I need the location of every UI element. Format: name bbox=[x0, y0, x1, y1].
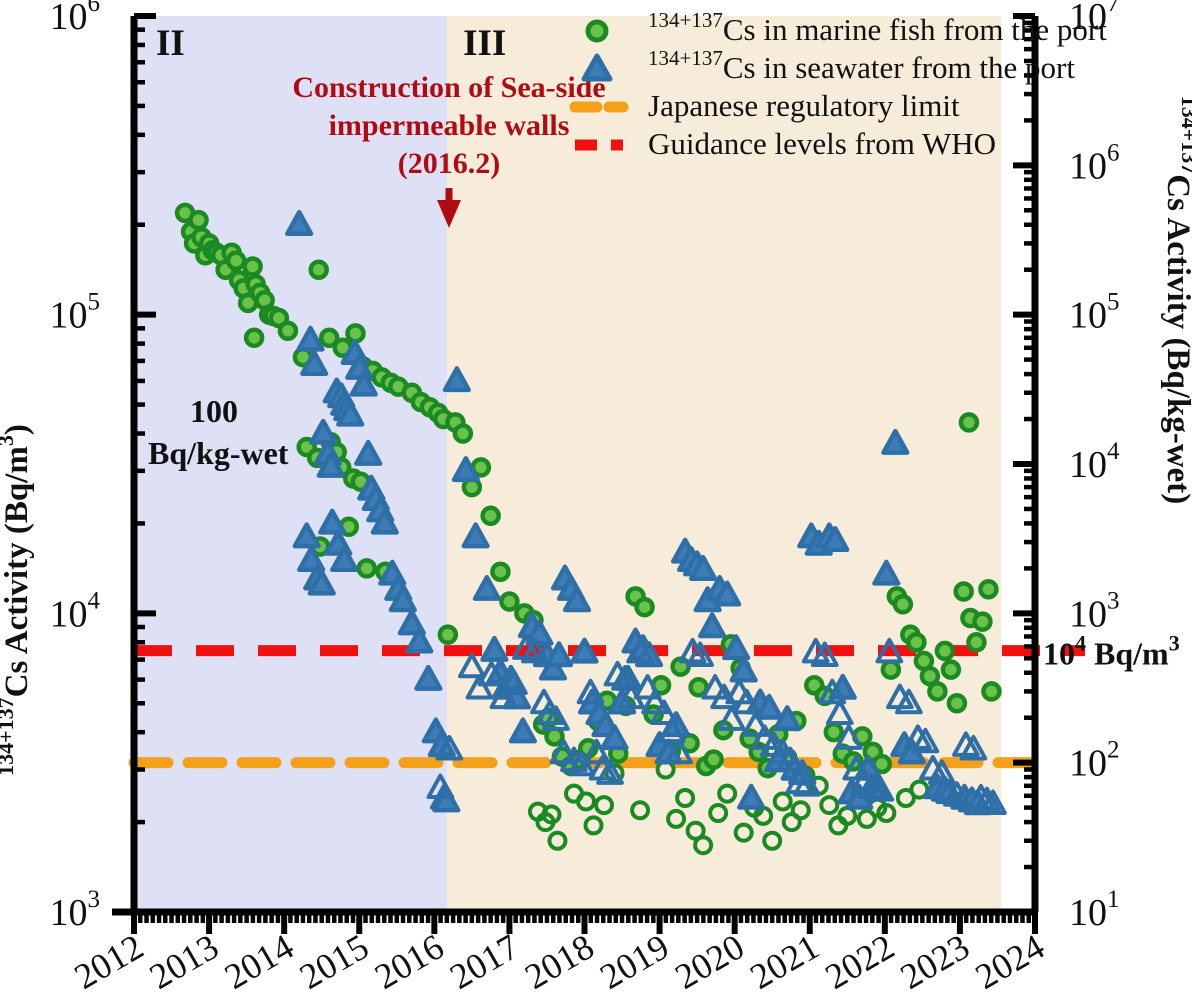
marine-fish-point bbox=[983, 683, 999, 699]
marine-fish-point bbox=[455, 426, 471, 442]
marine-fish-point bbox=[440, 627, 456, 643]
y-axis-left-tick-label: 104 bbox=[50, 587, 101, 635]
legend-label: Japanese regulatory limit bbox=[648, 88, 960, 123]
marine-fish-point bbox=[961, 414, 977, 430]
marine-fish-point bbox=[228, 253, 244, 269]
marine-fish-point bbox=[483, 508, 499, 524]
x-axis-tick-label: 2024 bbox=[969, 926, 1051, 997]
x-axis-tick-label: 2022 bbox=[818, 926, 900, 997]
marine-fish-point bbox=[280, 323, 296, 339]
x-axis-tick-label: 2019 bbox=[593, 926, 675, 997]
marine-fish-point bbox=[492, 564, 508, 580]
chart-root: IIIII10310410510610110210310410510610720… bbox=[0, 0, 1192, 1001]
marine-fish-point bbox=[956, 584, 972, 600]
marine-fish-point bbox=[949, 695, 965, 711]
marine-fish-point bbox=[347, 325, 363, 341]
marine-fish-point bbox=[929, 683, 945, 699]
y-axis-left-tick-label: 103 bbox=[50, 886, 101, 934]
x-axis-ticks: 2012201320142015201620172018201920202021… bbox=[68, 912, 1051, 997]
orange-limit-label-line2: Bq/kg-wet bbox=[148, 435, 289, 471]
y-axis-left-tick-label: 106 bbox=[50, 0, 101, 38]
x-axis-tick-label: 2023 bbox=[894, 926, 976, 997]
region-label-iii: III bbox=[463, 23, 506, 64]
y-axis-right-title: 134+137Cs Activity (Bq/kg-wet) bbox=[1160, 96, 1192, 505]
y-axis-left-tick-label: 105 bbox=[50, 289, 101, 337]
legend-marker-filled-circle bbox=[588, 22, 606, 40]
x-axis-tick-label: 2013 bbox=[143, 926, 225, 997]
marine-fish-point bbox=[359, 560, 375, 576]
x-axis-tick-label: 2016 bbox=[368, 926, 450, 997]
x-axis-tick-label: 2020 bbox=[668, 926, 750, 997]
marine-fish-point bbox=[937, 643, 953, 659]
region-label-ii: II bbox=[156, 23, 185, 64]
x-axis-tick-label: 2018 bbox=[518, 926, 600, 997]
marine-fish-point bbox=[968, 634, 984, 650]
y-axis-right-tick-label: 105 bbox=[1069, 289, 1120, 337]
orange-limit-label-line1: 100 bbox=[190, 393, 238, 429]
y-axis-right-tick-label: 103 bbox=[1069, 587, 1120, 635]
y-axis-right-tick-label: 102 bbox=[1069, 737, 1120, 785]
marine-fish-point bbox=[501, 594, 517, 610]
marine-fish-point bbox=[191, 212, 207, 228]
annotation-line-2: impermeable walls bbox=[329, 109, 570, 142]
marine-fish-point bbox=[826, 724, 842, 740]
marine-fish-point bbox=[637, 599, 653, 615]
y-axis-right-tick-label: 101 bbox=[1069, 886, 1120, 934]
red-guidance-label: 104 Bq/m3 bbox=[1043, 631, 1180, 672]
annotation-line-3: (2016.2) bbox=[398, 147, 500, 180]
marine-fish-point bbox=[883, 662, 899, 678]
marine-fish-point bbox=[895, 596, 911, 612]
cesium-activity-scatter-chart: IIIII10310410510610110210310410510610720… bbox=[0, 0, 1192, 1001]
marine-fish-point bbox=[943, 662, 959, 678]
x-axis-tick-label: 2021 bbox=[743, 926, 825, 997]
y-axis-right-tick-label: 106 bbox=[1069, 139, 1120, 187]
y-axis-left-title: 134+137Cs Activity (Bq/m3) bbox=[0, 424, 35, 776]
marine-fish-point bbox=[974, 614, 990, 630]
legend-label: Guidance levels from WHO bbox=[648, 126, 996, 161]
marine-fish-point bbox=[311, 262, 327, 278]
marine-fish-point bbox=[980, 581, 996, 597]
annotation-line-1: Construction of Sea-side bbox=[292, 71, 605, 104]
marine-fish-point bbox=[706, 752, 722, 768]
x-axis-tick-label: 2015 bbox=[293, 926, 375, 997]
x-axis-tick-label: 2012 bbox=[68, 926, 150, 997]
y-axis-right-ticks: 101102103104105106107 bbox=[1013, 0, 1120, 934]
marine-fish-point bbox=[246, 330, 262, 346]
y-axis-right-tick-label: 104 bbox=[1069, 438, 1120, 486]
x-axis-tick-label: 2017 bbox=[443, 926, 525, 997]
marine-fish-point bbox=[245, 259, 261, 275]
marine-fish-point bbox=[908, 634, 924, 650]
x-axis-tick-label: 2014 bbox=[218, 926, 300, 997]
